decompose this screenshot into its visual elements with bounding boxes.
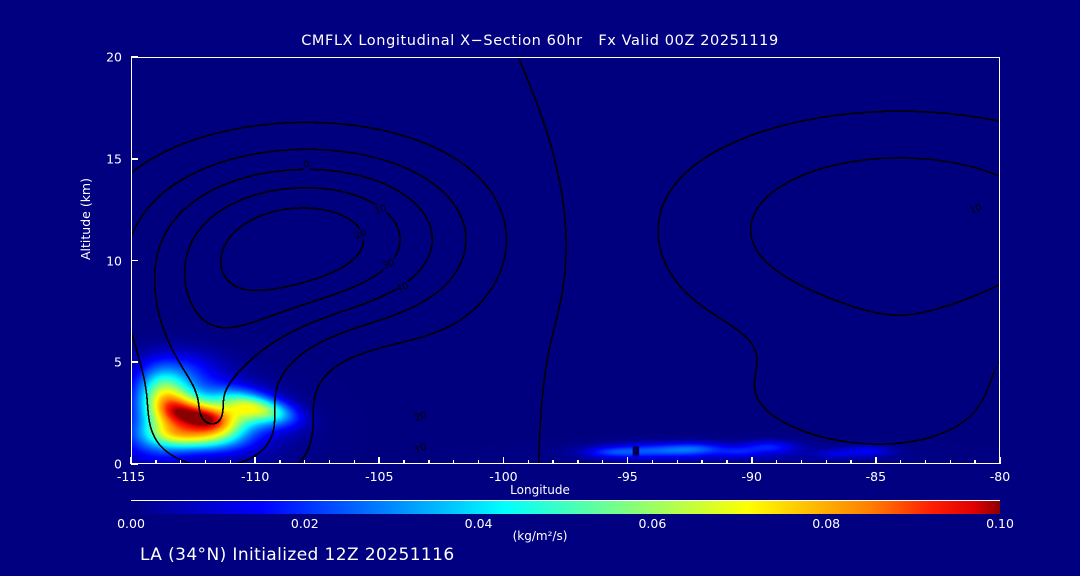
contour-line [132,162,223,235]
contour-line [132,334,187,462]
contour-line [762,111,999,131]
contour-line [132,126,255,172]
contour-line [317,353,365,390]
contour-line [275,308,410,400]
contour-line [221,208,364,290]
contour-line [132,126,251,172]
contour-line [751,158,999,315]
contour-line [185,235,382,328]
contour-line [185,235,196,276]
contour-line [388,161,456,207]
contour-line [784,423,862,444]
x-minor-tick [428,460,429,464]
contour-line [169,342,260,424]
x-minor-tick [279,460,280,464]
contour-line [658,140,930,444]
x-minor-tick [826,460,827,464]
contour-line [132,122,453,172]
contour-line [274,308,411,430]
x-minor-tick [329,460,330,464]
contour-line [784,423,875,444]
x-minor-tick [726,460,727,464]
contour-line [789,279,949,315]
contour-line [751,205,999,315]
contour-line [658,111,990,444]
contour-line [789,279,924,315]
contour-line [539,360,547,463]
contour-line [239,319,382,463]
contour-line [155,202,251,424]
contour-line [716,316,784,423]
contour-line [726,111,999,146]
contour-line [388,161,466,238]
contour-line [155,169,351,423]
contour-line [132,149,360,234]
contour-line [132,122,483,182]
contour-line [658,139,930,444]
contour-line [185,235,315,328]
contour-line [185,213,347,328]
contour-line [155,169,433,423]
contour-line [239,334,339,463]
contour-line [519,58,557,167]
contour-line [539,297,562,463]
contour-line [519,58,566,308]
x-minor-tick [304,460,305,464]
contour-line [658,111,930,444]
contour-line [751,187,999,315]
contour-line [132,134,214,172]
contour-line [784,423,925,444]
contour-line [751,158,999,315]
contour-line [658,111,944,444]
contour-line [221,208,364,290]
contour-line [221,208,364,290]
contour-line [132,122,456,172]
contour-line [155,180,251,424]
x-tick-label: -85 [846,469,906,484]
contour-line [169,342,260,424]
contour-line [221,208,364,290]
contour-line [132,124,268,172]
contour-line [155,169,315,423]
contour-line [132,122,342,172]
contour-line [519,58,552,149]
contour-line [155,169,433,423]
contour-line [155,169,397,423]
x-minor-tick [850,460,851,464]
contour-line [975,371,995,412]
contour-line [169,342,229,424]
contour-line [789,279,859,308]
contour-line [155,177,251,423]
contour-line [169,319,321,423]
contour-line [751,170,999,315]
contour-line [388,161,464,223]
contour-line [718,111,999,150]
contour-line [658,111,999,279]
contour-line [275,308,410,415]
contour-line [169,308,352,423]
contour-line [309,353,365,449]
contour-line [671,111,999,190]
contour-line [239,445,268,463]
contour-line [658,111,930,444]
contour-line [155,169,431,423]
contour-line [185,235,196,294]
contour-line [132,334,189,463]
contour-line [132,122,369,172]
contour-line [789,279,889,315]
contour-line [789,279,903,315]
contour-line [299,382,321,463]
contour-line [658,147,930,445]
contour-line [132,122,451,172]
contour-line [185,235,196,268]
contour-line [221,208,364,290]
contour-line [239,375,283,463]
contour-line [658,111,999,246]
contour-line [185,188,347,328]
x-minor-tick [925,460,926,464]
contour-line [716,316,768,412]
contour-line [658,111,999,249]
contour-line [931,419,967,437]
contour-line [155,169,433,423]
contour-line [822,158,999,176]
contour-line [784,423,921,444]
contour-line [762,257,999,315]
contour-line [132,187,171,235]
contour-line [658,111,999,253]
contour-line [716,316,775,417]
contour-line [221,208,364,290]
contour-line [784,423,848,443]
contour-line [185,191,347,327]
contour-line [132,334,149,419]
contour-line [267,308,410,444]
contour-line [132,122,360,172]
contour-line [221,209,364,290]
contour-line [132,165,214,235]
contour-line [299,286,493,463]
contour-line [658,128,930,444]
x-tick-mark [875,457,877,464]
contour-line [185,188,383,328]
contour-line [169,330,295,423]
contour-line [658,198,930,444]
contour-line [185,235,337,328]
contour-line [132,122,351,172]
contour-line [239,316,393,463]
contour-line [658,111,930,444]
contour-line [155,169,310,423]
contour-line [169,283,406,424]
contour-line [313,353,365,419]
contour-line [751,158,999,315]
contour-line [221,208,364,290]
contour-line [185,188,374,328]
run-caption: LA (34°N) Initialized 12Z 20251116 [140,545,455,565]
contour-line [299,364,341,463]
contour-line [716,316,757,368]
contour-line [519,58,564,213]
contour-line [155,174,260,424]
contour-line [285,308,410,371]
contour-line [784,423,889,444]
contour-line [239,339,329,463]
contour-line [658,116,930,444]
contour-line [519,58,566,305]
contour-line [321,353,365,382]
contour-line [169,268,422,424]
x-minor-tick [552,460,553,464]
contour-line [716,316,757,390]
contour-line [658,111,999,299]
contour-line [388,161,452,201]
contour-line [658,111,999,306]
contour-line [239,321,379,463]
contour-line [132,146,177,172]
contour-line [132,122,465,172]
contour-line [658,111,999,271]
contour-line [299,354,360,463]
contour-line [221,208,364,290]
contour-line [185,188,363,328]
contour-line [221,208,364,290]
contour-line [274,308,410,426]
contour-line [155,169,432,423]
contour-line [658,111,930,444]
contour-line [132,122,500,209]
contour-line [157,216,178,256]
contour-line [169,342,265,424]
contour-line [155,205,251,424]
contour-line [319,209,360,230]
contour-line [658,117,930,444]
contour-line [319,209,346,218]
contour-line [751,158,999,315]
contour-line [789,279,994,315]
contour-line [299,339,415,463]
contour-line [716,316,931,444]
contour-line [221,209,364,290]
contour-line [132,334,148,408]
contour-line [751,158,999,315]
contour-line [132,150,169,172]
contour-line [221,208,364,290]
contour-line [658,111,967,444]
contour-line [519,58,566,338]
contour-line [519,58,561,189]
contour-line [751,194,999,315]
x-minor-tick [403,460,404,464]
contour-line [388,161,438,187]
contour-line [221,208,364,290]
contour-line [716,316,757,398]
contour-line [132,128,241,172]
contour-line [658,154,930,444]
contour-line [132,122,497,202]
contour-line [658,111,999,264]
contour-line [132,122,383,172]
contour-line [313,353,365,423]
contour-line [169,342,240,424]
contour-line [155,169,433,423]
contour-line [658,111,999,303]
contour-level--20 [751,158,999,315]
contour-line [221,208,364,290]
contour-line [751,158,999,315]
contour-line [132,139,196,172]
contour-line [658,111,999,304]
contour-line [751,209,999,315]
contour-line [751,177,999,315]
contour-line [299,246,506,463]
contour-line [132,122,432,172]
contour-line [239,330,349,463]
contour-line [319,209,363,275]
contour-line [185,235,228,328]
contour-line [239,345,316,463]
contour-line [539,360,547,459]
contour-line [751,176,999,315]
contour-line [519,58,560,183]
contour-line [319,209,351,220]
contour-line [239,290,440,463]
colorbar [131,500,1000,514]
contour-line [185,188,351,328]
contour-line [388,161,449,198]
contour-line [155,169,393,423]
contour-line [185,235,196,264]
contour-line [319,209,361,231]
contour-line [132,151,273,234]
contour-line [388,161,443,191]
contour-line [803,285,999,315]
contour-line [185,188,347,328]
contour-line [132,334,148,415]
contour-line [519,58,566,275]
contour-line [185,242,347,328]
contour-line [519,58,554,157]
x-minor-tick [180,460,181,464]
x-minor-tick [701,460,702,464]
contour-line [221,209,364,290]
contour-line [132,122,506,267]
contour-line [789,279,985,315]
contour-line [221,208,364,290]
contour-line [941,419,967,434]
contour-line [658,150,930,444]
contour-line [221,208,364,290]
contour-line [185,235,315,328]
contour-line [155,235,251,424]
contour-line [784,423,830,439]
contour-line [132,334,134,341]
contour-line [784,423,834,440]
contour-line [221,208,364,290]
contour-line [132,122,365,172]
contour-line [169,320,320,424]
contour-line [658,111,976,444]
contour-line [658,183,930,444]
contour-line [716,316,759,401]
contour-line [169,310,347,424]
contour-line [388,161,466,235]
contour-line [221,208,364,290]
contour-line [155,169,433,423]
contour-line [716,316,778,419]
contour-line [658,111,981,444]
contour-line [658,111,930,444]
contour-line [185,235,304,328]
contour-line [275,308,410,404]
contour-line [388,161,447,196]
contour-line [539,319,557,463]
contour-line [169,308,351,423]
contour-line [221,209,364,290]
contour-line [319,353,365,386]
contour-line [132,149,378,234]
contour-line [155,187,251,424]
contour-line [658,137,930,444]
contour-line [789,279,967,315]
contour-line [658,111,999,223]
contour-line [388,161,425,177]
contour-line [169,286,401,424]
contour-line [519,58,561,191]
x-tick-mark [999,457,1001,464]
contour-line [221,208,364,290]
contour-line [751,162,999,315]
contour-line [132,122,433,172]
contour-line [658,111,953,444]
contour-line [313,353,364,408]
contour-line [155,194,251,424]
contour-line [185,235,219,327]
contour-line [299,342,405,464]
contour-line [221,208,364,290]
contour-line [221,209,364,290]
contour-line [221,208,364,290]
contour-line [299,268,502,463]
contour-line [185,235,356,328]
contour-line [132,334,155,438]
contour-line [155,169,342,423]
contour-line [784,423,839,441]
contour-line [299,360,346,463]
contour-line [221,208,364,290]
contour-line [132,155,251,235]
contour-line [155,169,433,423]
contour-line [221,208,364,290]
contour-line [169,316,329,423]
contour-line [132,127,246,172]
contour-line [185,188,361,328]
contour-line [277,308,411,389]
x-minor-tick [950,460,951,464]
contour-line [221,208,364,290]
contour-line [751,158,999,315]
contour-line [658,111,930,444]
contour-line [789,279,871,312]
x-minor-tick [230,460,231,464]
contour-line [716,316,757,364]
contour-line [185,235,196,272]
contour-line [751,173,999,315]
contour-line [185,191,347,328]
